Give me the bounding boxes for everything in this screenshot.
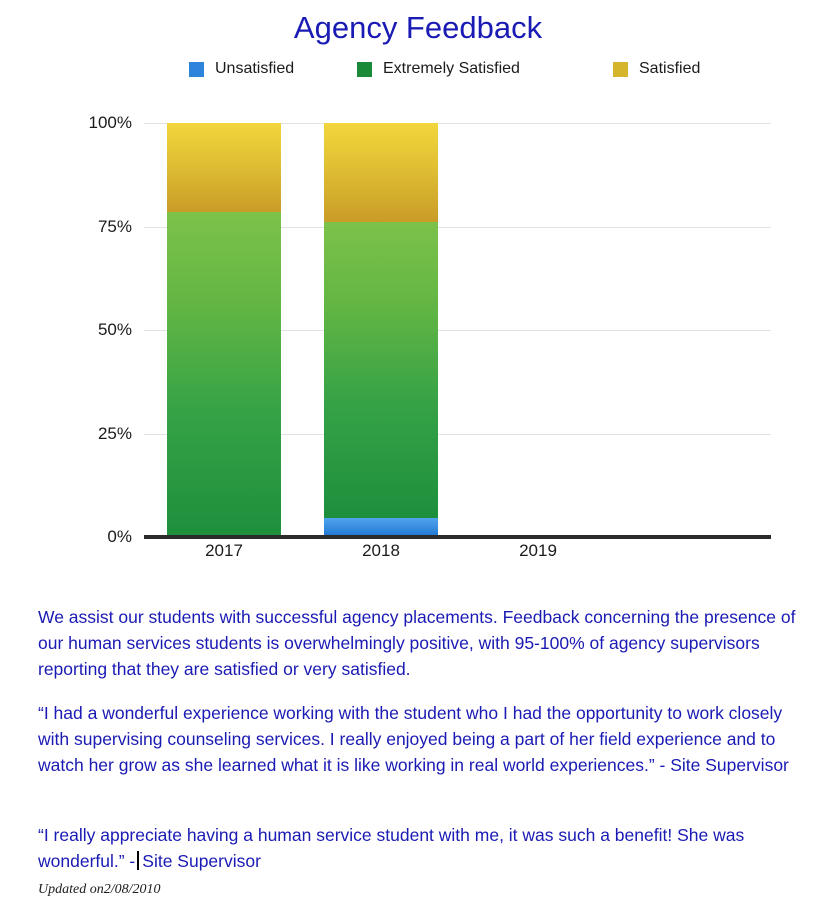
- y-axis-tick-75%: 75%: [0, 217, 132, 237]
- x-axis-tick-2018: 2018: [301, 541, 461, 561]
- legend-label-unsatisfied: Unsatisfied: [215, 58, 294, 80]
- y-axis-labels: 0%25%50%75%100%: [0, 0, 132, 918]
- x-axis-tick-2017: 2017: [144, 541, 304, 561]
- text-cursor-caret: [137, 851, 139, 870]
- updated-timestamp: Updated on2/08/2010: [38, 882, 161, 898]
- y-axis-tick-25%: 25%: [0, 424, 132, 444]
- bar-group-2018[interactable]: [324, 123, 438, 537]
- legend-item-satisfied[interactable]: Satisfied: [613, 58, 700, 80]
- bar-segment-2018-extremely-satisfied[interactable]: [324, 222, 438, 518]
- testimonial-quote-1: “I had a wonderful experience working wi…: [38, 700, 810, 778]
- intro-paragraph: We assist our students with successful a…: [38, 604, 810, 682]
- x-axis-line: [144, 535, 771, 539]
- bar-group-2017[interactable]: [167, 123, 281, 537]
- y-axis-tick-100%: 100%: [0, 113, 132, 133]
- legend-item-unsatisfied[interactable]: Unsatisfied: [189, 58, 294, 80]
- legend-label-satisfied: Satisfied: [639, 58, 700, 80]
- legend-swatch-unsatisfied: [189, 62, 204, 77]
- legend-label-extremely-satisfied: Extremely Satisfied: [383, 58, 520, 80]
- legend-item-extremely-satisfied[interactable]: Extremely Satisfied: [357, 58, 520, 80]
- bar-segment-2017-extremely-satisfied[interactable]: [167, 212, 281, 537]
- x-axis-tick-2019: 2019: [458, 541, 618, 561]
- legend-swatch-extremely-satisfied: [357, 62, 372, 77]
- bar-segment-2017-satisfied[interactable]: [167, 123, 281, 212]
- testimonial-quote-2-attribution: Site Supervisor: [142, 851, 261, 871]
- x-axis-labels: 201720182019: [0, 541, 836, 567]
- bar-segment-2018-satisfied[interactable]: [324, 123, 438, 222]
- chart-plot-area: [144, 123, 771, 537]
- y-axis-tick-50%: 50%: [0, 320, 132, 340]
- testimonial-quote-2[interactable]: “I really appreciate having a human serv…: [38, 822, 810, 874]
- legend-swatch-satisfied: [613, 62, 628, 77]
